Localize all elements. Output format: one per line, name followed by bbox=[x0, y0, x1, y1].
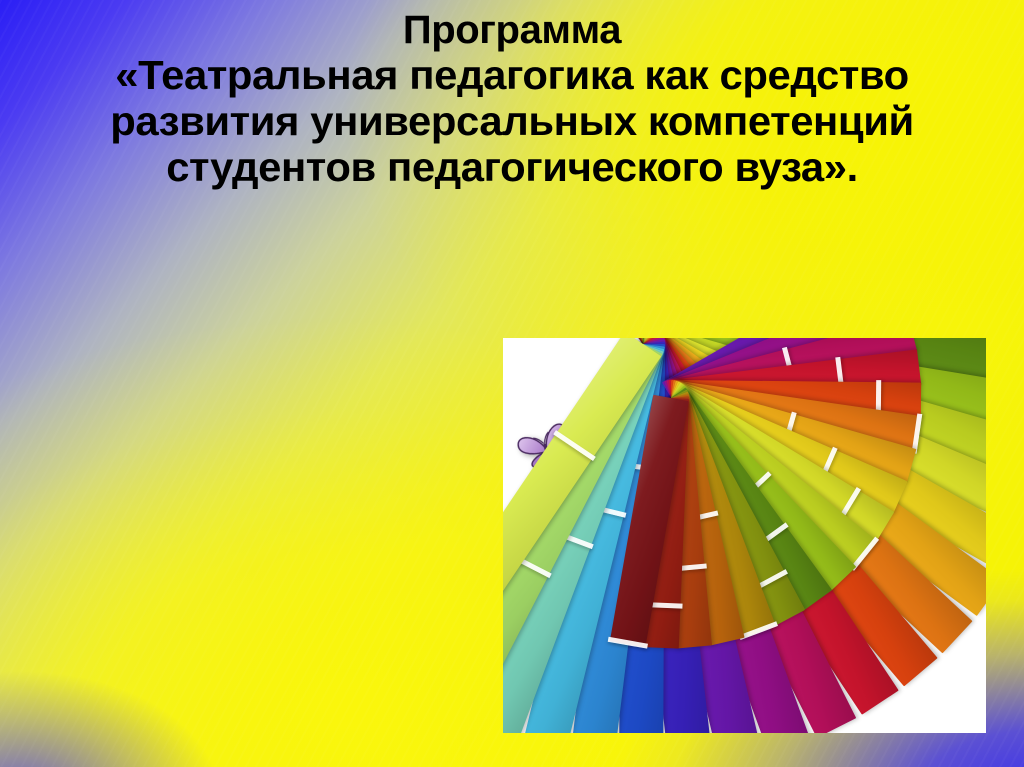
title-line-1: Программа bbox=[16, 8, 1008, 53]
title-line-4: студентов педагогического вуза». bbox=[6, 145, 1018, 191]
title-line-3: развития универсальных компетенций bbox=[6, 99, 1018, 145]
slide-title: Программа «Театральная педагогика как ср… bbox=[0, 8, 1024, 191]
title-line-2: «Театральная педагогика как средство bbox=[6, 53, 1018, 99]
presentation-slide: Программа «Театральная педагогика как ср… bbox=[0, 0, 1024, 767]
color-swatch-fan bbox=[503, 338, 986, 733]
slide-image-color-fan bbox=[503, 338, 986, 733]
